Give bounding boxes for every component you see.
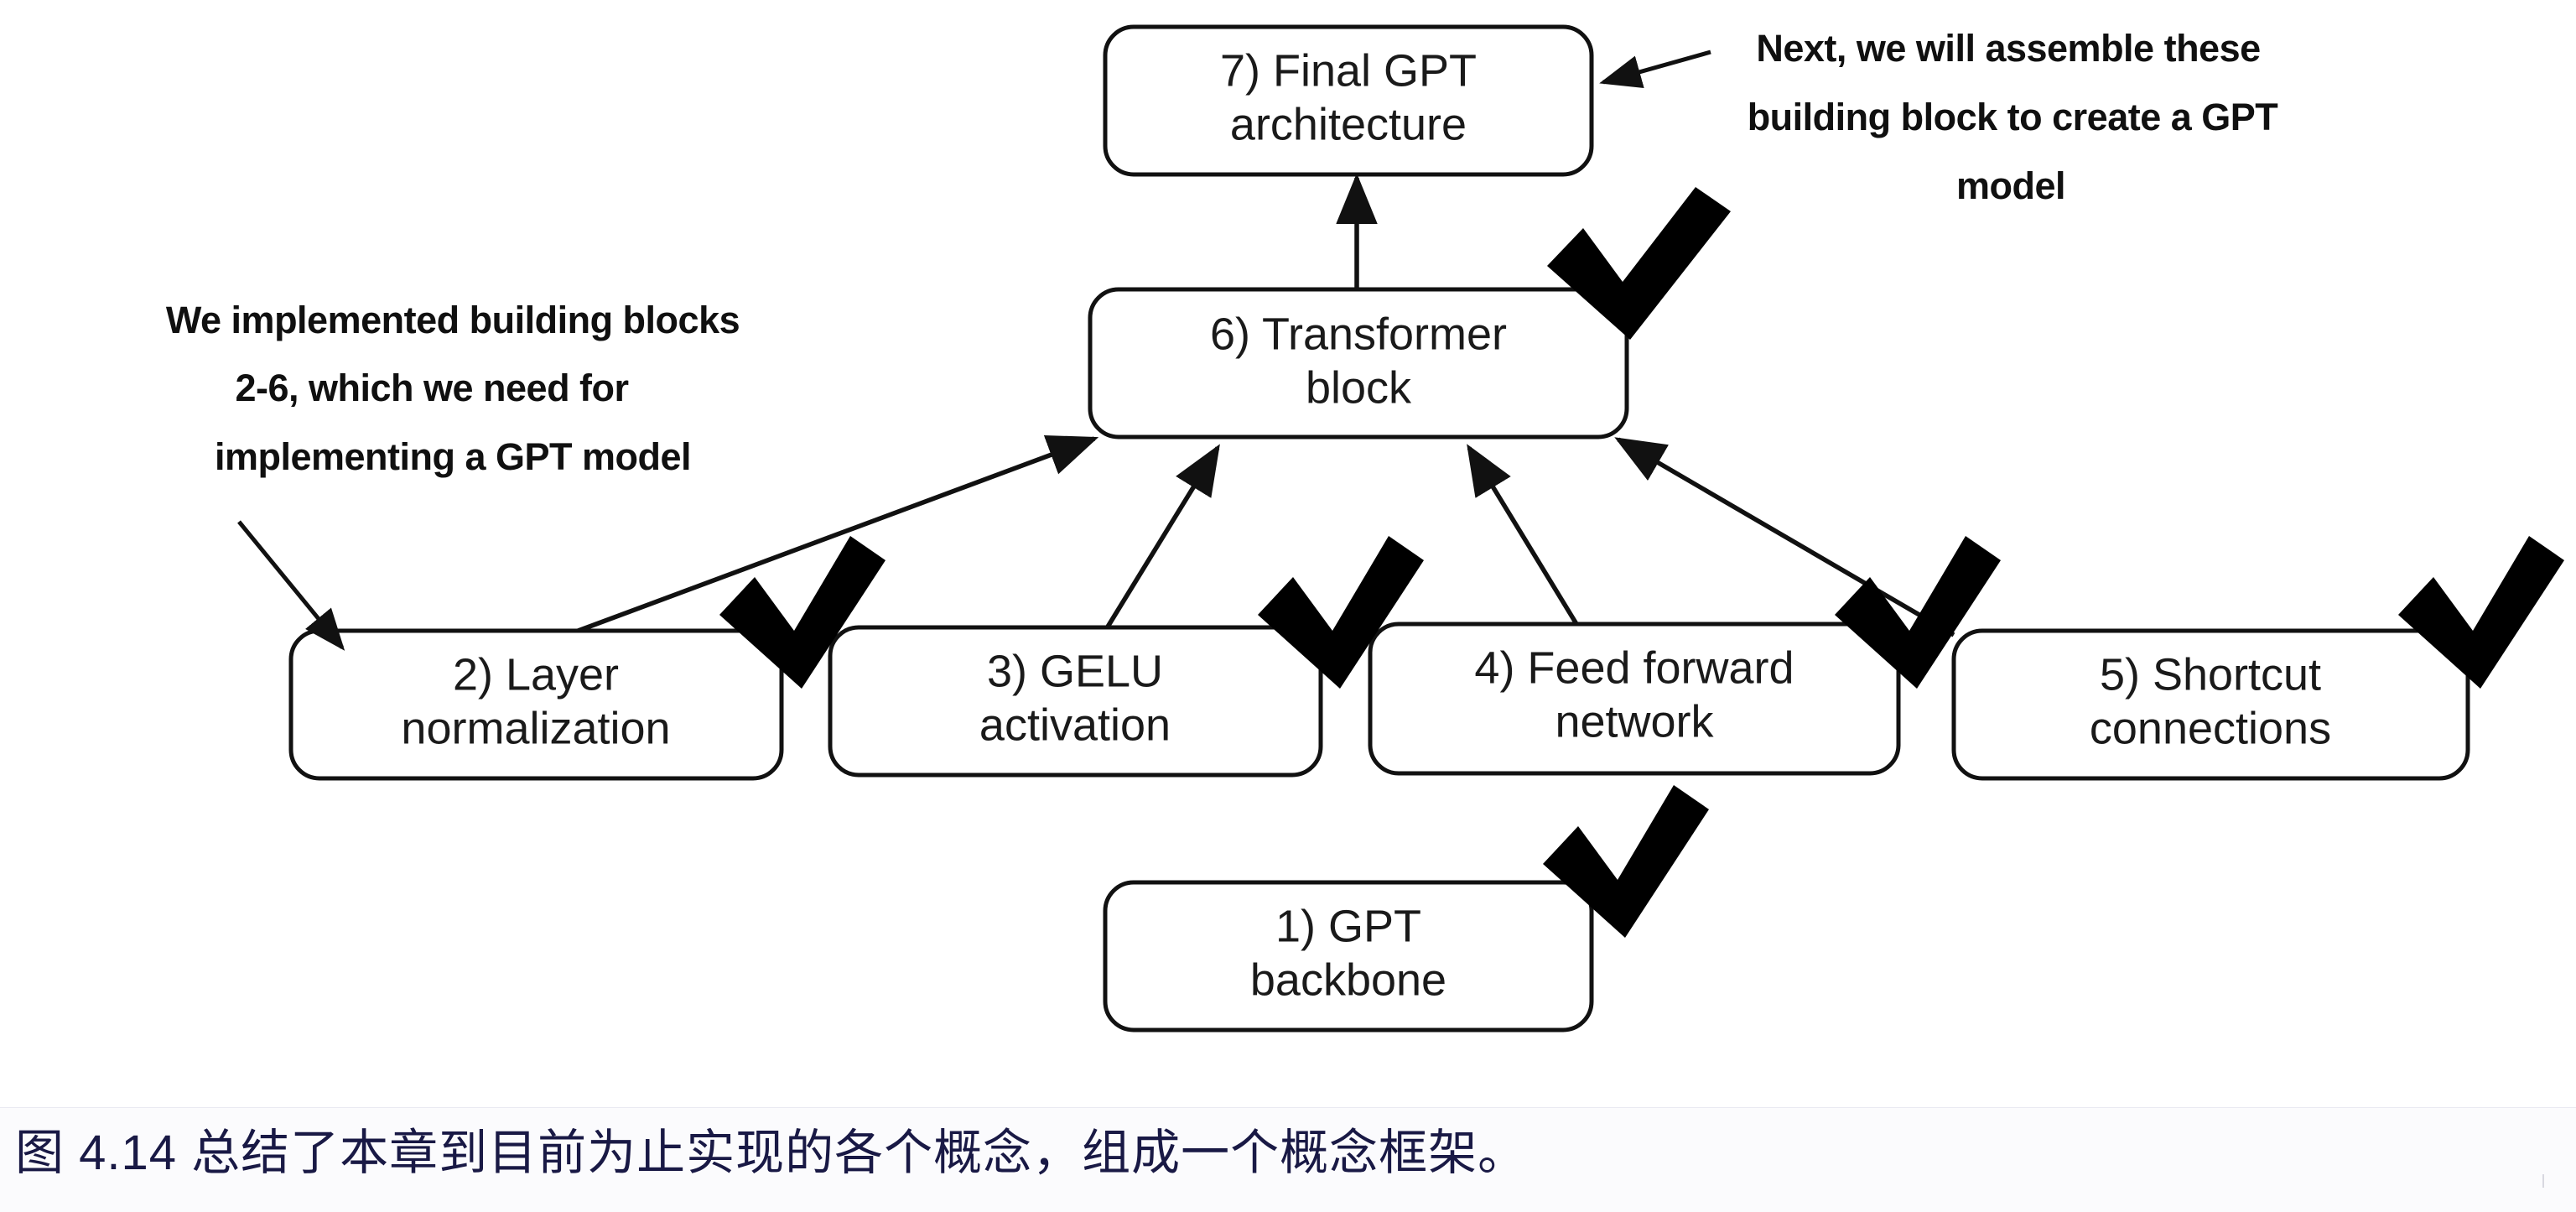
- left-annotation-line2: 2-6, which we need for: [235, 367, 628, 409]
- box-layer-normalization-line2: normalization: [401, 703, 670, 753]
- box-gpt-backbone[interactable]: 1) GPT backbone: [1105, 882, 1592, 1030]
- leader-left-note: [239, 522, 342, 648]
- box-transformer-block-line1: 6) Transformer: [1210, 309, 1507, 359]
- left-annotation-line3: implementing a GPT model: [215, 435, 691, 478]
- box-shortcut-connections-line2: connections: [2090, 703, 2331, 753]
- box-feed-forward-network-line1: 4) Feed forward: [1474, 642, 1794, 693]
- right-annotation-line3: model: [1956, 164, 2065, 207]
- scroll-tick: [2542, 1174, 2544, 1188]
- box-transformer-block-line2: block: [1306, 362, 1412, 413]
- check-marks: [719, 187, 2564, 938]
- left-annotation-line1: We implemented building blocks: [166, 299, 740, 341]
- right-annotation-line2: building block to create a GPT: [1748, 96, 2278, 138]
- box-transformer-block[interactable]: 6) Transformer block: [1090, 289, 1627, 437]
- arrow-feedforward-to-transformer: [1469, 448, 1583, 635]
- concept-framework-diagram: 7) Final GPT architecture 6) Transformer…: [0, 0, 2576, 1211]
- box-gelu-activation-line2: activation: [979, 700, 1171, 750]
- figure-root: 7) Final GPT architecture 6) Transformer…: [0, 0, 2576, 1211]
- right-annotation-line1: Next, we will assemble these: [1756, 27, 2260, 70]
- box-gelu-activation-line1: 3) GELU: [987, 646, 1163, 696]
- box-layer-normalization[interactable]: 2) Layer normalization: [291, 631, 782, 778]
- leader-right-note: [1603, 52, 1711, 82]
- box-feed-forward-network[interactable]: 4) Feed forward network: [1370, 624, 1898, 773]
- box-gpt-backbone-line1: 1) GPT: [1275, 901, 1421, 951]
- box-gelu-activation[interactable]: 3) GELU activation: [830, 627, 1321, 775]
- box-feed-forward-network-line2: network: [1555, 696, 1714, 746]
- box-gpt-backbone-line2: backbone: [1250, 955, 1446, 1005]
- box-shortcut-connections[interactable]: 5) Shortcut connections: [1954, 631, 2468, 778]
- arrow-shortcut-to-transformer: [1618, 440, 1954, 635]
- arrow-gelu-to-transformer: [1103, 448, 1218, 635]
- box-final-gpt-architecture-line2: architecture: [1230, 99, 1467, 149]
- box-final-gpt-architecture-line1: 7) Final GPT: [1220, 45, 1477, 96]
- box-final-gpt-architecture[interactable]: 7) Final GPT architecture: [1105, 27, 1592, 174]
- box-shortcut-connections-line1: 5) Shortcut: [2100, 649, 2321, 700]
- right-annotation: Next, we will assemble these building bl…: [1748, 27, 2278, 207]
- left-annotation: We implemented building blocks 2-6, whic…: [166, 299, 740, 478]
- figure-caption: 图 4.14 总结了本章到目前为止实现的各个概念，组成一个概念框架。: [15, 1122, 1527, 1184]
- box-layer-normalization-line1: 2) Layer: [453, 649, 619, 700]
